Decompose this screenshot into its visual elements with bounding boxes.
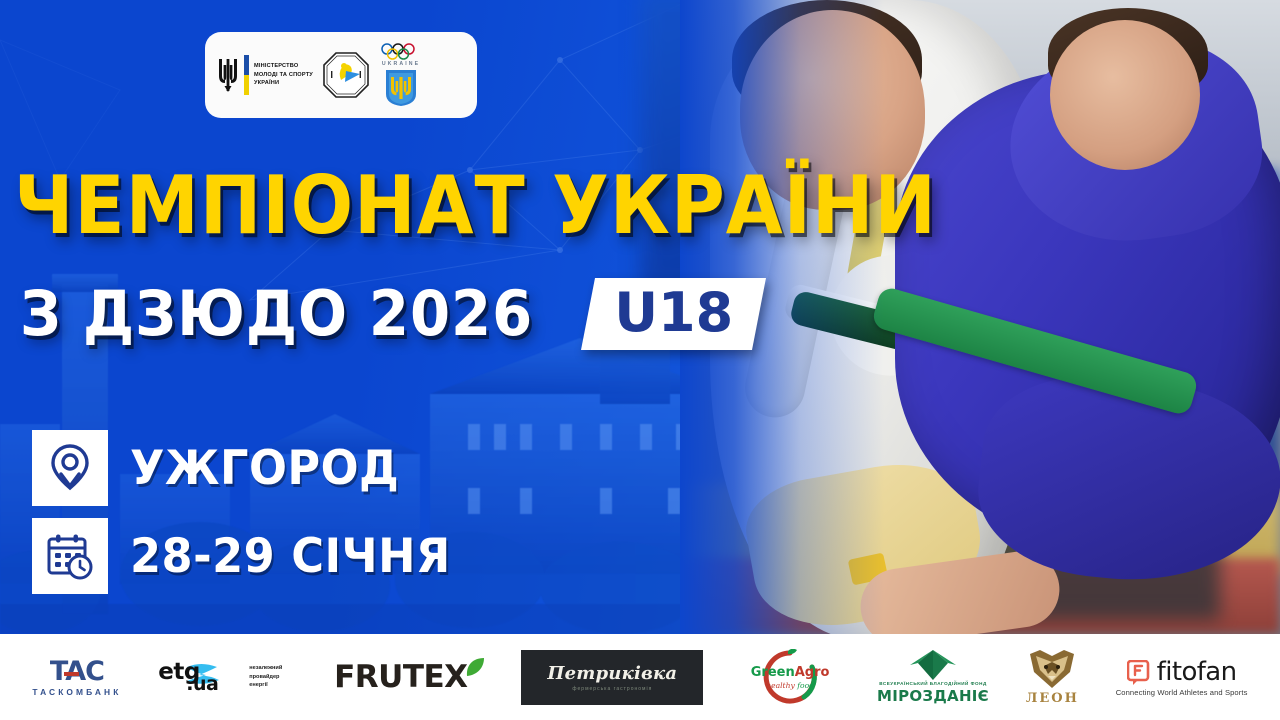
- ukraine-flag-bar: [244, 55, 249, 95]
- greenagro-word-green: Green: [751, 665, 795, 680]
- mirozdanie-wordmark: МІРОЗДАНІЄ: [877, 687, 989, 705]
- greenagro-tag-food: food: [797, 681, 814, 690]
- tascombank-wordmark: TAC: [50, 658, 104, 685]
- ministry-name: МІНІСТЕРСТВО МОЛОДІ ТА СПОРТУ УКРАЇНИ: [254, 62, 313, 88]
- location-icon-box: [32, 430, 108, 506]
- subtitle-row: З ДЗЮДО 2026 U18: [20, 278, 759, 350]
- etg-logomark: etg .ua: [158, 657, 244, 697]
- sponsor-leon: ЛЕОН: [1026, 647, 1079, 707]
- sponsor-petrykivka: Петриківка фермерська гастрономія: [521, 647, 703, 707]
- sponsor-mirozdanie: ВСЕУКРАЇНСЬКИЙ БЛАГОДІЙНИЙ ФОНД МІРОЗДАН…: [877, 647, 989, 707]
- event-details: УЖГОРОД: [32, 430, 468, 606]
- petrykivka-tagline: фермерська гастрономія: [572, 686, 652, 692]
- judo-federation-emblem-icon: [322, 51, 370, 99]
- sponsor-tascombank: TAC ТАСКОМБАНК: [32, 647, 121, 707]
- fitofan-tagline: Connecting World Athletes and Sports: [1116, 688, 1248, 697]
- olympic-word: UKRAINE: [382, 61, 420, 67]
- greenagro-wordmark: GreenAgro: [751, 665, 830, 680]
- photo-left-fade: [680, 0, 1280, 634]
- location-row: УЖГОРОД: [32, 430, 468, 506]
- mirozdanie-diamond-icon: [910, 650, 956, 680]
- etg-domain: .ua: [186, 673, 218, 695]
- frutex-wordmark: FRUTEX: [334, 659, 467, 695]
- sponsor-bar: TAC ТАСКОМБАНК etg .ua незалежний провай…: [0, 634, 1280, 720]
- page-title: ЧЕМПІОНАТ УКРАЇНИ: [14, 168, 937, 244]
- olympic-rings-icon: [379, 43, 423, 60]
- date-icon-box: [32, 518, 108, 594]
- judo-athletes-photo: [680, 0, 1280, 634]
- sponsor-greenagro: GreenAgro healthy food: [740, 647, 840, 707]
- calendar-clock-icon: [45, 531, 95, 581]
- greenagro-tag-healthy: healthy: [766, 681, 795, 690]
- ministry-line-2: МОЛОДІ ТА СПОРТУ: [254, 71, 313, 80]
- etg-tagline: незалежний провайдер енергії: [249, 664, 297, 689]
- ministry-logo: МІНІСТЕРСТВО МОЛОДІ ТА СПОРТУ УКРАЇНИ: [217, 55, 313, 95]
- sponsor-frutex: FRUTEX: [334, 647, 484, 707]
- petrykivka-wordmark: Петриківка: [547, 663, 677, 684]
- map-pin-icon: [46, 442, 94, 494]
- organizer-logo-bar: МІНІСТЕРСТВО МОЛОДІ ТА СПОРТУ УКРАЇНИ: [205, 32, 477, 118]
- trident-icon: [217, 55, 239, 95]
- event-dates: 28-29 СІЧНЯ: [130, 529, 451, 584]
- mirozdanie-fund-label: ВСЕУКРАЇНСЬКИЙ БЛАГОДІЙНИЙ ФОНД: [879, 681, 986, 686]
- ministry-line-3: УКРАЇНИ: [254, 79, 313, 88]
- event-poster: 0 0 3:00: [0, 0, 1280, 720]
- date-row: 28-29 СІЧНЯ: [32, 518, 468, 594]
- page-subtitle: З ДЗЮДО 2026: [20, 283, 533, 345]
- lion-head-icon: [1026, 648, 1078, 690]
- age-category-label: U18: [614, 286, 733, 340]
- leon-wordmark: ЛЕОН: [1026, 691, 1079, 706]
- leaf-icon: [465, 657, 485, 679]
- age-category-badge: U18: [581, 278, 766, 350]
- fitofan-chat-icon: [1127, 660, 1152, 685]
- greenagro-tagline: healthy food: [766, 681, 814, 690]
- ukraine-shield-icon: [384, 68, 418, 108]
- sponsor-etg-ua: etg .ua незалежний провайдер енергії: [158, 647, 297, 707]
- fitofan-wordmark: fitofan: [1157, 657, 1237, 687]
- sponsor-fitofan: fitofan Connecting World Athletes and Sp…: [1116, 647, 1248, 707]
- event-city: УЖГОРОД: [130, 441, 399, 496]
- greenagro-word-agro: Agro: [795, 665, 830, 680]
- ministry-line-1: МІНІСТЕРСТВО: [254, 62, 313, 71]
- tascombank-name: ТАСКОМБАНК: [32, 687, 121, 697]
- olympic-committee-logo: UKRAINE: [379, 43, 423, 108]
